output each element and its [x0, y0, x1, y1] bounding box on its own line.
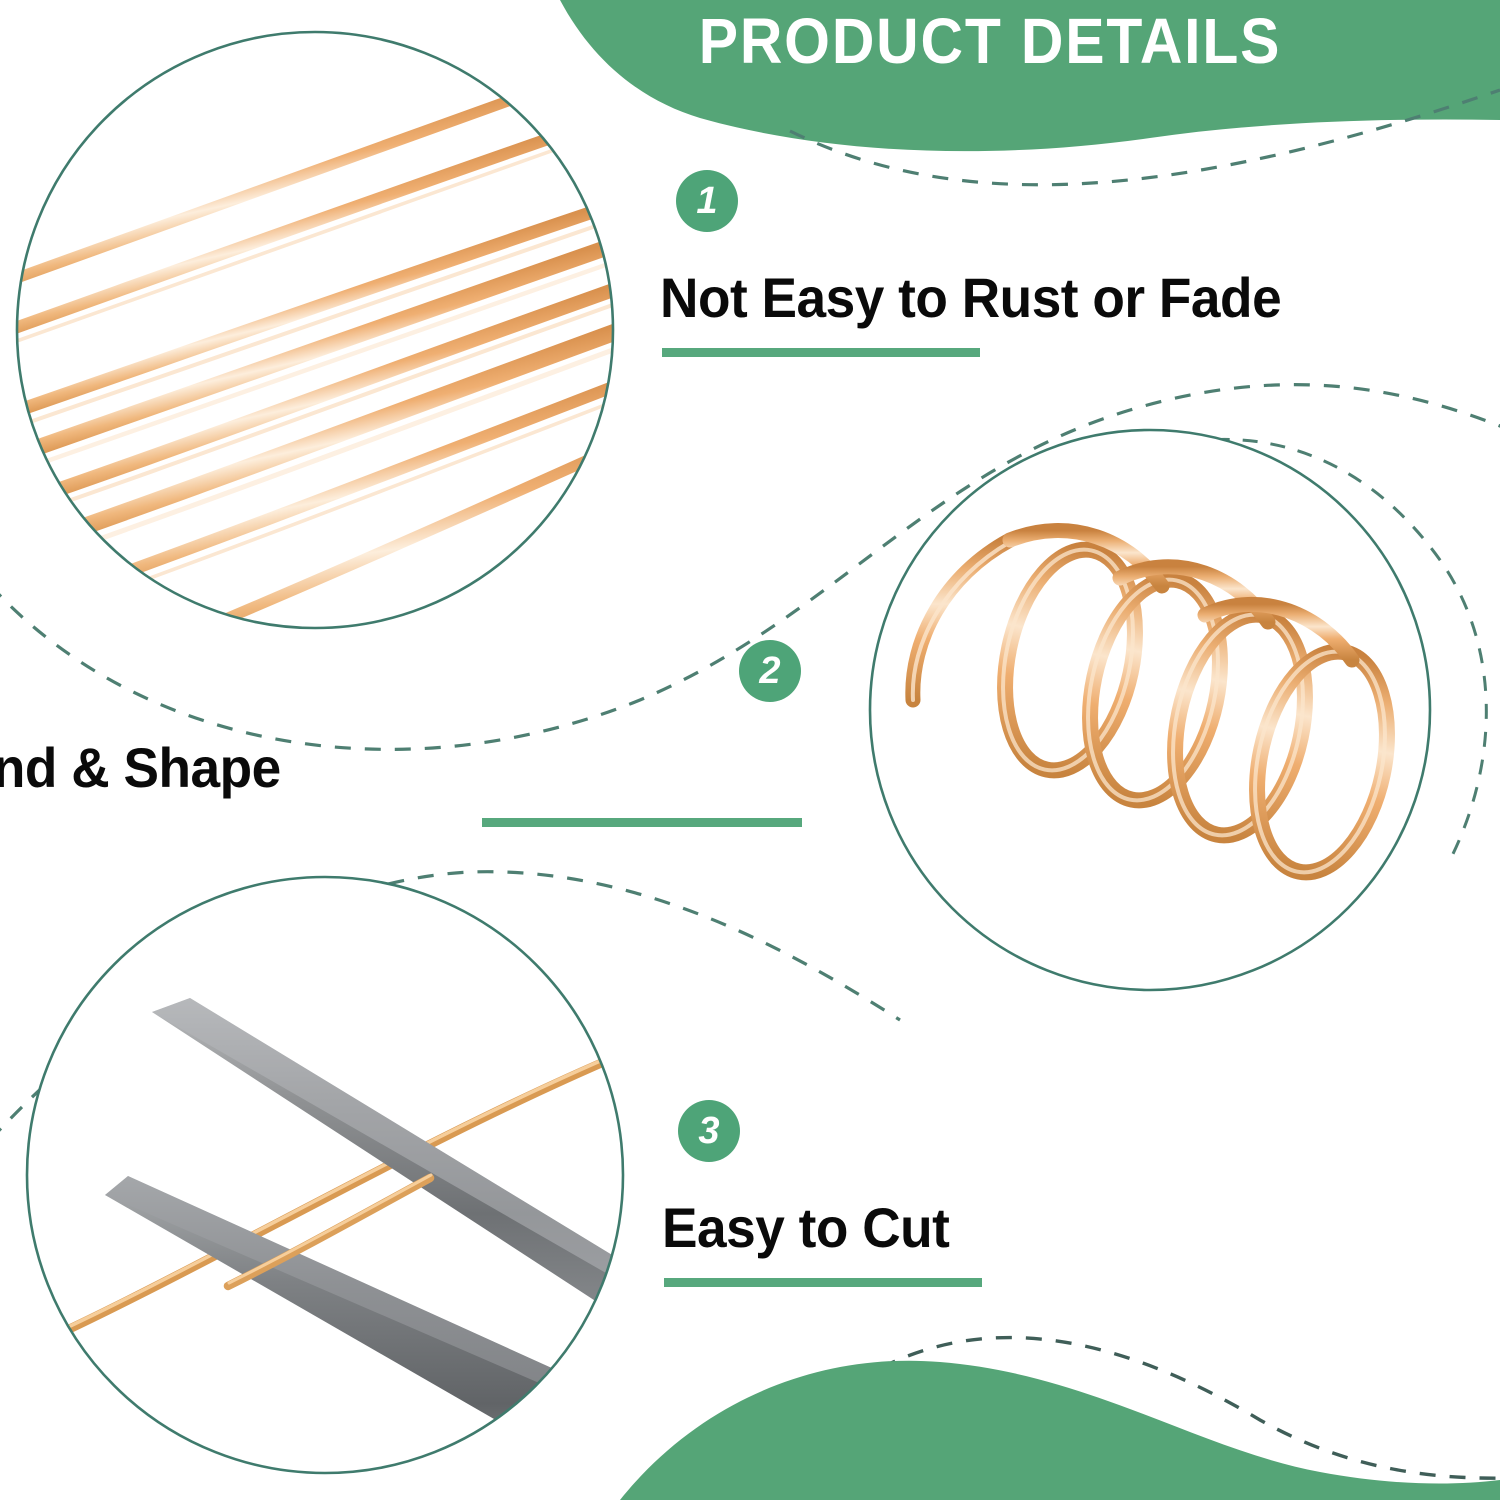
feature-underline-2: [482, 818, 802, 827]
product-details-infographic: PRODUCT DETAILS 1 Not Easy to Rust or Fa…: [0, 0, 1500, 1500]
feature-title-1: Not Easy to Rust or Fade: [660, 265, 1281, 330]
feature-title-3: Easy to Cut: [662, 1195, 949, 1260]
feature-badge-1: 1: [676, 170, 738, 232]
page-title: PRODUCT DETAILS: [668, 8, 1312, 75]
feature-underline-1: [662, 348, 980, 357]
text-content-layer: PRODUCT DETAILS 1 Not Easy to Rust or Fa…: [0, 0, 1500, 1500]
feature-underline-3: [664, 1278, 982, 1287]
feature-badge-2: 2: [739, 640, 801, 702]
feature-badge-3: 3: [678, 1100, 740, 1162]
feature-title-2: Easy to Bend & Shape: [0, 735, 250, 800]
